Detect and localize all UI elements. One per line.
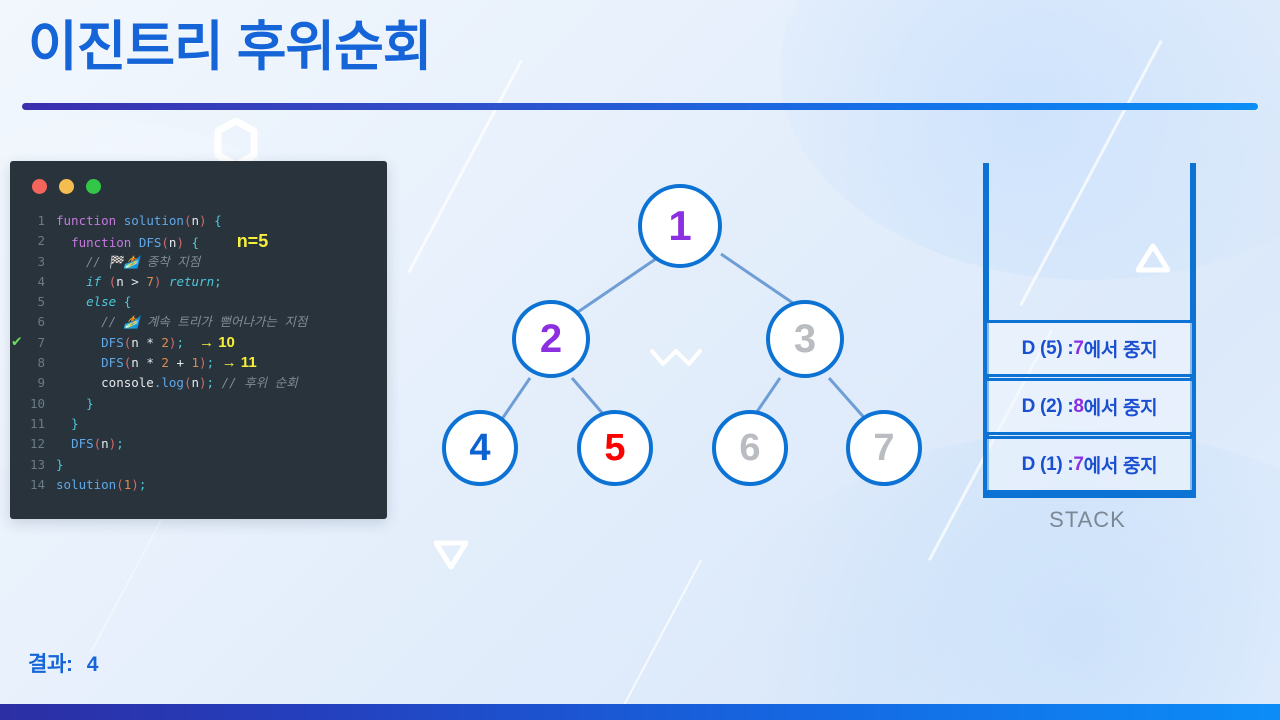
stack-item-highlight: 8 <box>1073 396 1083 418</box>
tree-node-7[interactable]: 7 <box>846 410 922 486</box>
line-number: 6 <box>10 312 56 332</box>
code-text: function DFS(n) { n=5 <box>56 231 387 253</box>
tree-node-1[interactable]: 1 <box>638 184 722 268</box>
minimize-window-dot[interactable] <box>59 179 74 194</box>
stack-item-highlight: 7 <box>1073 338 1083 360</box>
binary-tree-diagram: 1 2 3 4 5 6 7 <box>420 170 980 510</box>
code-text: if (n > 7) return; <box>56 272 387 292</box>
page-title: 이진트리 후위순회 <box>28 20 431 74</box>
line-number: 12 <box>10 434 56 454</box>
tree-node-6[interactable]: 6 <box>712 410 788 486</box>
triangle-down-icon <box>434 540 468 570</box>
code-text: solution(1); <box>56 475 387 495</box>
code-line: 4 if (n > 7) return; <box>10 272 387 292</box>
stack-label: STACK <box>975 507 1200 533</box>
title-block: 이진트리 후위순회 <box>0 12 1280 104</box>
stack-item-middle[interactable]: D (2) : 8에서 중지 <box>984 378 1195 435</box>
line-number: 5 <box>10 292 56 312</box>
code-line: 10 } <box>10 394 387 414</box>
code-text: else { <box>56 292 387 312</box>
code-line: 8 DFS(n * 2 + 1); → 11 <box>10 353 387 373</box>
maximize-window-dot[interactable] <box>86 179 101 194</box>
tree-node-label: 2 <box>540 317 562 362</box>
annotation-n-value: n=5 <box>237 231 269 251</box>
code-text: function solution(n) { <box>56 211 387 231</box>
code-line: 9 console.log(n); // 후위 순회 <box>10 373 387 393</box>
stack-item-suffix: 에서 중지 <box>1084 393 1158 420</box>
code-line: 2 function DFS(n) { n=5 <box>10 231 387 251</box>
stack-item-suffix: 에서 중지 <box>1084 451 1158 478</box>
code-line: 12 DFS(n); <box>10 434 387 454</box>
code-text: console.log(n); // 후위 순회 <box>56 373 387 393</box>
code-line: 14solution(1); <box>10 475 387 495</box>
stack-item-prefix: D (2) : <box>1022 396 1074 418</box>
code-line: 5 else { <box>10 292 387 312</box>
annotation-line8: → 11 <box>222 354 257 371</box>
tree-node-label: 7 <box>873 427 894 470</box>
stack-item-highlight: 7 <box>1073 454 1083 476</box>
code-comment-line6: // 🏄 계속 트리가 뻗어나가는 지점 <box>101 314 307 329</box>
code-line: 11 } <box>10 414 387 434</box>
code-line: 1function solution(n) { <box>10 211 387 231</box>
code-text: DFS(n); <box>56 434 387 454</box>
line-number: 3 <box>10 252 56 272</box>
code-line: 7✔ DFS(n * 2); → 10 <box>10 333 387 353</box>
code-text: // 🏄 계속 트리가 뻗어나가는 지점 <box>56 312 387 332</box>
stack-item-prefix: D (5) : <box>1022 338 1074 360</box>
tree-node-5[interactable]: 5 <box>577 410 653 486</box>
bottom-accent-bar <box>0 704 1280 720</box>
annotation-line7: → 10 <box>199 334 235 351</box>
code-editor-titlebar <box>10 161 387 211</box>
code-text: } <box>56 414 387 434</box>
stack-item-bottom[interactable]: D (1) : 7에서 중지 <box>984 436 1195 493</box>
code-editor-window[interactable]: 1function solution(n) { 2 function DFS(n… <box>10 161 387 519</box>
code-line: 13} <box>10 455 387 475</box>
code-text: DFS(n * 2 + 1); → 11 <box>56 353 387 373</box>
result-value: 4 <box>87 653 98 676</box>
result-label: 결과: <box>28 653 73 676</box>
decorative-streak <box>90 520 162 653</box>
stack-item-suffix: 에서 중지 <box>1084 335 1158 362</box>
code-text: // 🏁🏄 종착 지점 <box>56 252 387 272</box>
line-number: 10 <box>10 394 56 414</box>
tree-node-label: 5 <box>604 427 625 470</box>
tree-node-label: 4 <box>469 427 490 470</box>
line-number: 13 <box>10 455 56 475</box>
tree-node-label: 3 <box>794 317 816 362</box>
tree-node-label: 6 <box>739 427 760 470</box>
tree-node-4[interactable]: 4 <box>442 410 518 486</box>
code-text: } <box>56 394 387 414</box>
code-editor-body[interactable]: 1function solution(n) { 2 function DFS(n… <box>10 211 387 495</box>
decorative-streak <box>611 560 702 720</box>
line-number: 1 <box>10 211 56 231</box>
code-line: 6 // 🏄 계속 트리가 뻗어나가는 지점 <box>10 312 387 332</box>
stack-visualization: D (5) : 7에서 중지 D (2) : 8에서 중지 D (1) : 7에… <box>975 163 1200 503</box>
slide-canvas: 이진트리 후위순회 1function solution(n) { 2 func… <box>0 0 1280 720</box>
line-number: 11 <box>10 414 56 434</box>
tree-node-3[interactable]: 3 <box>766 300 844 378</box>
checkmark-icon: ✔ <box>12 331 22 351</box>
title-underline <box>22 103 1258 110</box>
line-number: 9 <box>10 373 56 393</box>
code-comment-line3: // 🏁🏄 종착 지점 <box>86 254 200 269</box>
stack-item-top[interactable]: D (5) : 7에서 중지 <box>984 320 1195 377</box>
code-text: ✔ DFS(n * 2); → 10 <box>56 333 387 353</box>
tree-node-2[interactable]: 2 <box>512 300 590 378</box>
line-number: 4 <box>10 272 56 292</box>
line-number: 8 <box>10 353 56 373</box>
code-line: 3 // 🏁🏄 종착 지점 <box>10 252 387 272</box>
code-comment-line9: // 후위 순회 <box>222 375 298 390</box>
result-line: 결과:4 <box>28 648 98 678</box>
line-number: 14 <box>10 475 56 495</box>
stack-item-prefix: D (1) : <box>1022 454 1074 476</box>
close-window-dot[interactable] <box>32 179 47 194</box>
line-number: 2 <box>10 231 56 251</box>
code-text: } <box>56 455 387 475</box>
tree-node-label: 1 <box>668 202 691 250</box>
